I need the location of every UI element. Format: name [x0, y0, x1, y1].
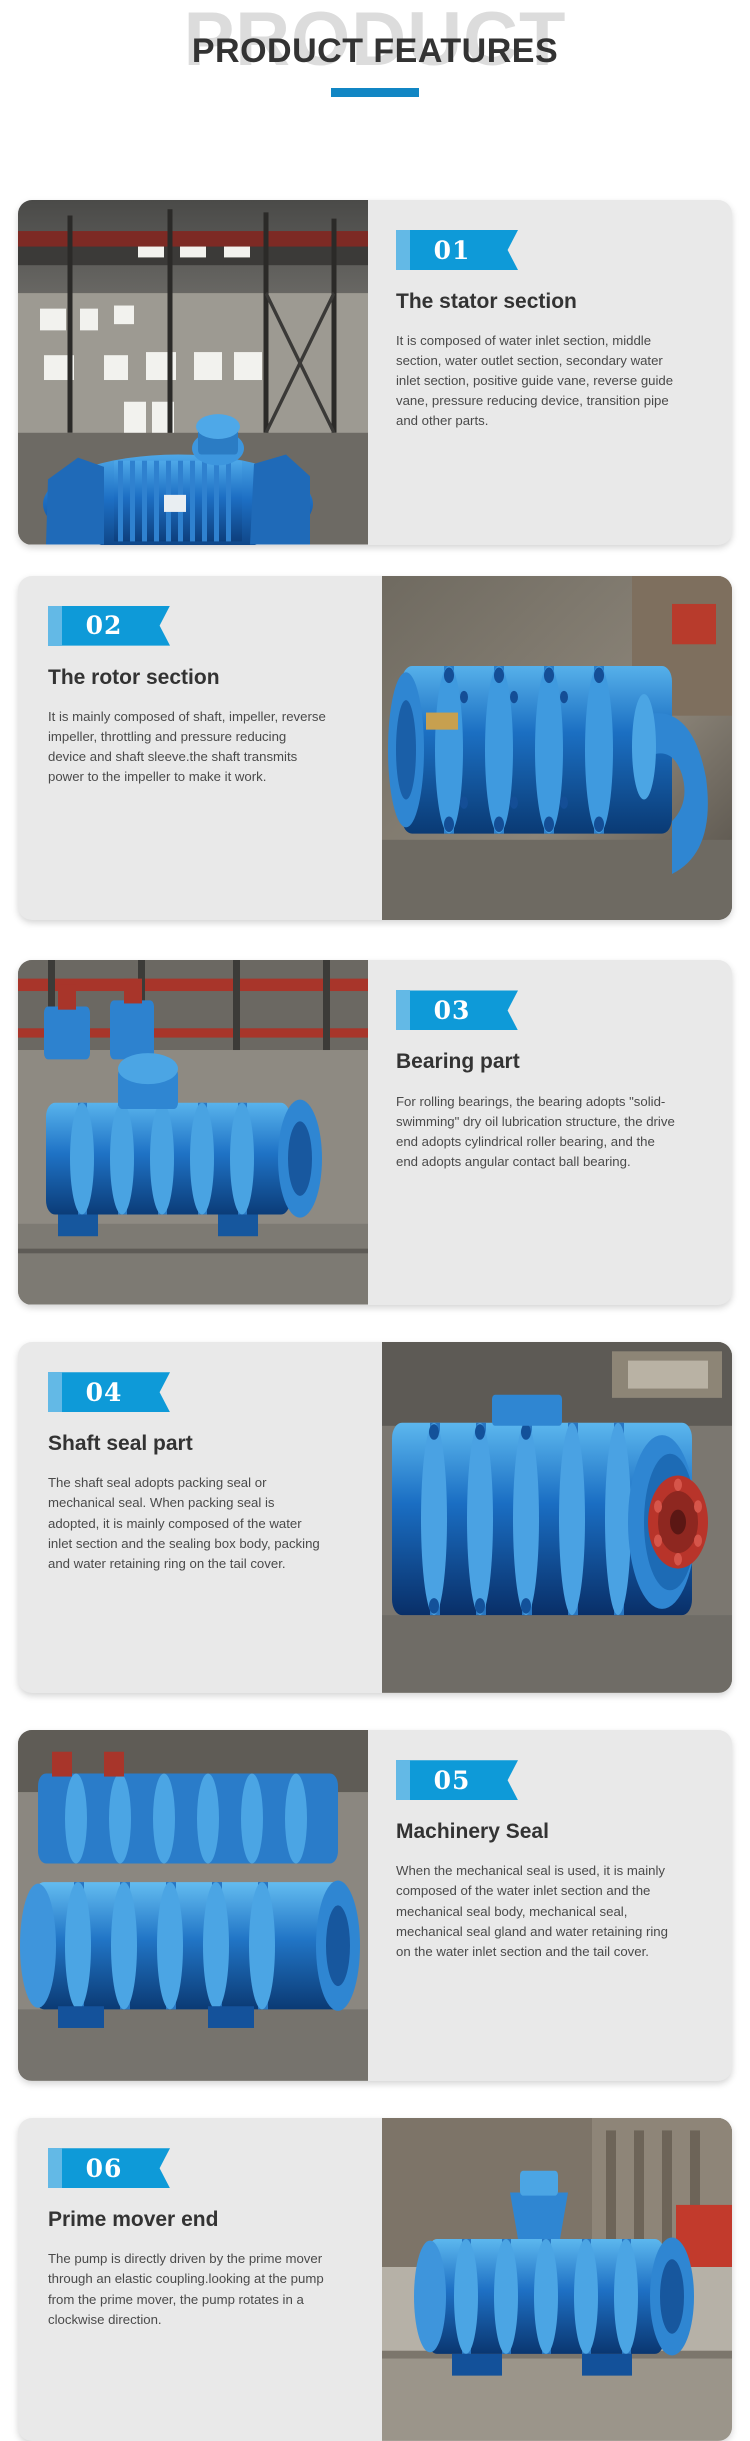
feature-image — [18, 960, 368, 1305]
ribbon-left-edge — [48, 2148, 62, 2188]
feature-title: The stator section — [396, 289, 704, 314]
feature-description: The shaft seal adopts packing seal or me… — [48, 1473, 326, 1573]
feature-number: 05 — [410, 1760, 494, 1800]
feature-card-body: 06 Prime mover end The pump is directly … — [18, 2118, 382, 2441]
feature-number: 03 — [410, 990, 494, 1030]
feature-title: Shaft seal part — [48, 1431, 354, 1456]
feature-card[interactable]: 05 Machinery Seal When the mechanical se… — [18, 1730, 732, 2081]
feature-number: 02 — [62, 606, 146, 646]
feature-description: It is mainly composed of shaft, impeller… — [48, 707, 326, 787]
ribbon-left-edge — [48, 606, 62, 646]
ribbon-left-edge — [396, 230, 410, 270]
feature-number-ribbon: 06 — [48, 2148, 170, 2188]
feature-title: Prime mover end — [48, 2207, 354, 2232]
feature-description: It is composed of water inlet section, m… — [396, 331, 676, 431]
ribbon-left-edge — [396, 1760, 410, 1800]
ribbon-left-edge — [396, 990, 410, 1030]
feature-card[interactable]: 01 The stator section It is composed of … — [18, 200, 732, 545]
feature-title: Bearing part — [396, 1049, 704, 1074]
feature-description: For rolling bearings, the bearing adopts… — [396, 1092, 676, 1172]
feature-number: 01 — [410, 230, 494, 270]
feature-number-ribbon: 02 — [48, 606, 170, 646]
ribbon-left-edge — [48, 1372, 62, 1412]
feature-card[interactable]: 03 Bearing part For rolling bearings, th… — [18, 960, 732, 1305]
pump-workshop-photo-01 — [18, 200, 368, 545]
feature-title: The rotor section — [48, 665, 354, 690]
feature-number: 04 — [62, 1372, 146, 1412]
feature-description: When the mechanical seal is used, it is … — [396, 1861, 676, 1961]
page-title: PRODUCT FEATURES — [0, 34, 750, 68]
feature-number-ribbon: 03 — [396, 990, 518, 1030]
feature-card-body: 03 Bearing part For rolling bearings, th… — [368, 960, 732, 1305]
feature-card-body: 04 Shaft seal part The shaft seal adopts… — [18, 1342, 382, 1693]
feature-number-ribbon: 04 — [48, 1372, 170, 1412]
pumps-on-floor-photo-03 — [18, 960, 368, 1305]
feature-image — [382, 2118, 732, 2441]
feature-number: 06 — [62, 2148, 146, 2188]
feature-title: Machinery Seal — [396, 1819, 704, 1844]
feature-number-ribbon: 05 — [396, 1760, 518, 1800]
feature-card[interactable]: 02 The rotor section It is mainly compos… — [18, 576, 732, 921]
feature-number-ribbon: 01 — [396, 230, 518, 270]
feature-image — [382, 1342, 732, 1693]
pump-rotor-photo-02 — [382, 576, 732, 921]
shaft-seal-photo-04 — [382, 1342, 732, 1693]
page-header: PRODUCT PRODUCT FEATURES — [0, 0, 750, 100]
feature-card[interactable]: 04 Shaft seal part The shaft seal adopts… — [18, 1342, 732, 1693]
feature-image — [382, 576, 732, 921]
row-of-pumps-photo-05 — [18, 1730, 368, 2081]
feature-description: The pump is directly driven by the prime… — [48, 2249, 326, 2329]
feature-image — [18, 1730, 368, 2081]
feature-image — [18, 200, 368, 545]
feature-card[interactable]: 06 Prime mover end The pump is directly … — [18, 2118, 732, 2441]
feature-card-body: 05 Machinery Seal When the mechanical se… — [368, 1730, 732, 2081]
feature-card-body: 02 The rotor section It is mainly compos… — [18, 576, 382, 921]
title-underline — [331, 88, 419, 97]
feature-card-body: 01 The stator section It is composed of … — [368, 200, 732, 545]
pump-outdoors-photo-06 — [382, 2118, 732, 2441]
